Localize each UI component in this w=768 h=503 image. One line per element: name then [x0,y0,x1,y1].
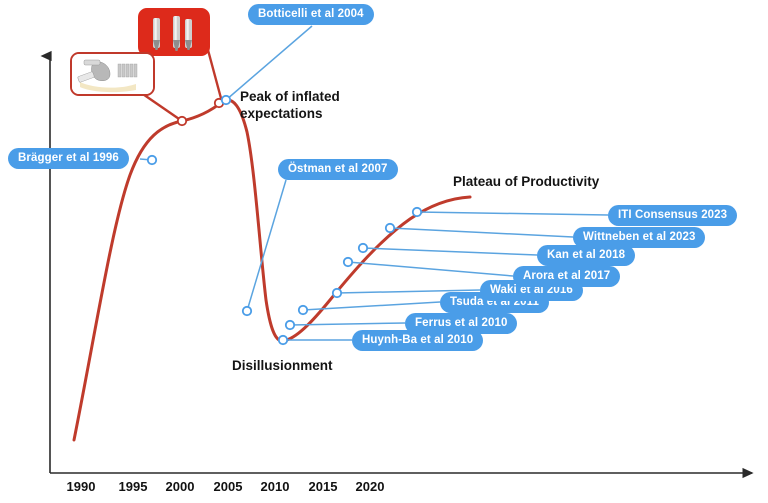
leader-tsuda [303,302,440,310]
label-wittneben-2023[interactable]: Wittneben et al 2023 [573,227,705,248]
leader-arora [348,262,513,276]
x-tick-2000: 2000 [159,479,201,494]
axes [50,56,752,473]
marker-wittneben [386,224,394,232]
leader-iti [417,212,608,215]
curve-markers-blue [148,96,421,344]
marker-kan [359,244,367,252]
marker-ostman [243,307,251,315]
label-arora-2017[interactable]: Arora et al 2017 [513,266,620,287]
marker-tsuda [299,306,307,314]
annotation-plateau-of-productivity: Plateau of Productivity [453,173,599,190]
x-tick-1990: 1990 [60,479,102,494]
label-bragger-1996[interactable]: Brägger et al 1996 [8,148,129,169]
dental-implants-icon [140,10,208,54]
leader-wittneben [390,228,573,237]
x-tick-2005: 2005 [207,479,249,494]
leader-ostman [247,180,286,311]
dental-implants-photo-inset [138,8,210,56]
marker-botticelli [222,96,230,104]
x-tick-2020: 2020 [349,479,391,494]
x-tick-2010: 2010 [254,479,296,494]
annotation-peak-of-inflated-expectations: Peak of inflated expectations [240,88,340,122]
hype-cycle-curve [74,100,470,440]
hype-cycle-figure: Brägger et al 1996 Botticelli et al 2004… [0,0,768,503]
implant-diagram-icon [72,54,153,94]
leader-ferrus [290,323,405,325]
label-ostman-2007[interactable]: Östman et al 2007 [278,159,398,180]
x-tick-1995: 1995 [112,479,154,494]
marker-implants-point [215,99,223,107]
curve-markers-red [178,99,223,125]
leader-bragger [140,159,152,160]
x-tick-2015: 2015 [302,479,344,494]
marker-huynhba [279,336,287,344]
leader-kan [363,248,537,255]
label-botticelli-2004[interactable]: Botticelli et al 2004 [248,4,374,25]
marker-bragger [148,156,156,164]
marker-waki [333,289,341,297]
label-kan-2018[interactable]: Kan et al 2018 [537,245,635,266]
label-ferrus-2010[interactable]: Ferrus et al 2010 [405,313,517,334]
marker-ferrus [286,321,294,329]
marker-diagram-point [178,117,186,125]
annotation-disillusionment: Disillusionment [232,357,333,374]
label-iti-consensus-2023[interactable]: ITI Consensus 2023 [608,205,737,226]
marker-iti [413,208,421,216]
implant-placement-diagram-inset [70,52,155,96]
marker-arora [344,258,352,266]
